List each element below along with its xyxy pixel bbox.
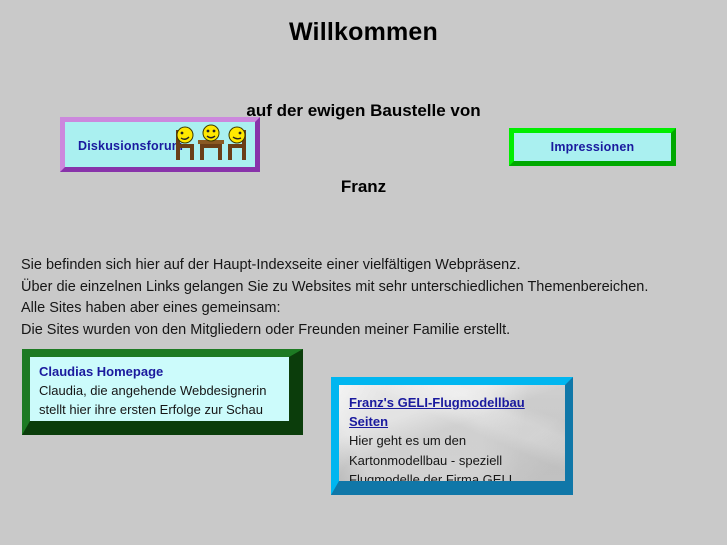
geli-title-line-2: Seiten <box>349 414 388 429</box>
page-root: Willkommen auf der ewigen Baustelle von … <box>0 0 727 545</box>
geli-flugmodellbau-line: Hier geht es um den <box>349 431 565 451</box>
intro-line: Die Sites wurden von den Mitgliedern ode… <box>21 320 711 342</box>
subtitle-line-2: Franz <box>0 177 727 197</box>
diskusionsforum-button[interactable]: Diskusionsforum <box>60 117 260 172</box>
diskusionsforum-label: Diskusionsforum <box>78 139 183 153</box>
intro-line: Sie befinden sich hier auf der Haupt-Ind… <box>21 255 711 277</box>
geli-flugmodellbau-line: Flugmodelle der Firma GELI. <box>349 470 565 490</box>
geli-flugmodellbau-line: Kartonmodellbau - speziell <box>349 451 565 471</box>
page-title: Willkommen <box>0 18 727 47</box>
intro-line: Über die einzelnen Links gelangen Sie zu… <box>21 277 711 299</box>
intro-paragraph: Sie befinden sich hier auf der Haupt-Ind… <box>21 255 711 341</box>
claudias-homepage-card-body: Claudias Homepage Claudia, die angehende… <box>30 357 289 419</box>
three-smileys-at-table-icon <box>173 122 249 167</box>
geli-title-line-1: Franz's GELI-Flugmodellbau <box>349 395 525 410</box>
claudias-homepage-title[interactable]: Claudias Homepage <box>39 364 289 379</box>
claudias-homepage-line: Claudia, die angehende Webdesignerin <box>39 381 289 400</box>
claudias-homepage-line: stellt hier ihre ersten Erfolge zur Scha… <box>39 400 289 419</box>
geli-flugmodellbau-card[interactable]: Franz's GELI-Flugmodellbau Seiten Hier g… <box>331 377 573 495</box>
impressionen-button[interactable]: Impressionen <box>509 128 676 166</box>
impressionen-label: Impressionen <box>551 140 635 154</box>
geli-flugmodellbau-title[interactable]: Franz's GELI-Flugmodellbau Seiten <box>349 393 565 431</box>
geli-flugmodellbau-card-body: Franz's GELI-Flugmodellbau Seiten Hier g… <box>339 385 565 490</box>
intro-line: Alle Sites haben aber eines gemeinsam: <box>21 298 711 320</box>
claudias-homepage-card[interactable]: Claudias Homepage Claudia, die angehende… <box>22 349 303 435</box>
